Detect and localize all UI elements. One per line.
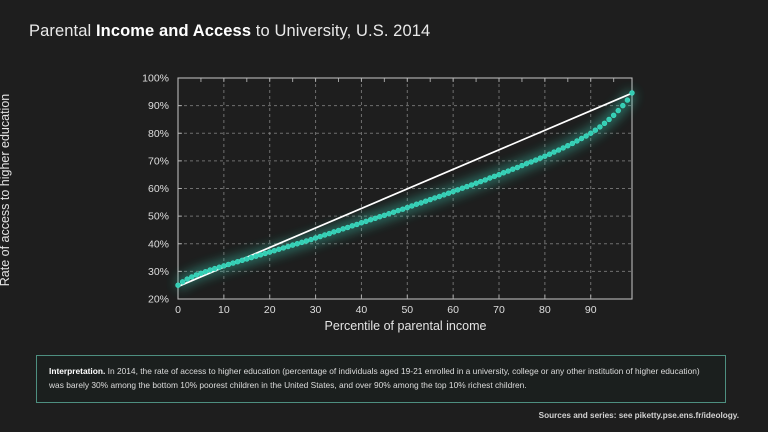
x-tick-label: 30 [310, 304, 322, 316]
x-tick-label: 40 [356, 304, 368, 316]
gridlines [178, 78, 632, 299]
y-tick-label: 50% [148, 211, 169, 223]
interpretation-label: Interpretation. [49, 366, 105, 376]
x-tick-label: 70 [493, 304, 505, 316]
axis-tick-labels: 010203040506070809020%30%40%50%60%70%80%… [142, 73, 597, 316]
y-tick-label: 60% [148, 183, 169, 195]
y-tick-label: 80% [148, 128, 169, 140]
x-tick-label: 10 [218, 304, 230, 316]
source-line: Sources and series: see piketty.pse.ens.… [539, 411, 739, 420]
y-tick-label: 100% [142, 73, 169, 85]
y-tick-label: 90% [148, 100, 169, 112]
x-tick-label: 80 [539, 304, 551, 316]
x-tick-label: 90 [585, 304, 597, 316]
x-tick-label: 50 [401, 304, 413, 316]
interpretation-note: Interpretation. In 2014, the rate of acc… [36, 355, 726, 403]
y-tick-label: 30% [148, 266, 169, 278]
interpretation-text: In 2014, the rate of access to higher ed… [49, 366, 700, 390]
y-tick-label: 40% [148, 238, 169, 250]
y-axis-title: Rate of access to higher education [0, 80, 18, 300]
x-tick-label: 60 [447, 304, 459, 316]
y-tick-label: 70% [148, 155, 169, 167]
x-tick-label: 20 [264, 304, 276, 316]
x-axis-title: Percentile of parental income [178, 319, 633, 333]
y-tick-label: 20% [148, 294, 169, 306]
x-tick-label: 0 [175, 304, 181, 316]
